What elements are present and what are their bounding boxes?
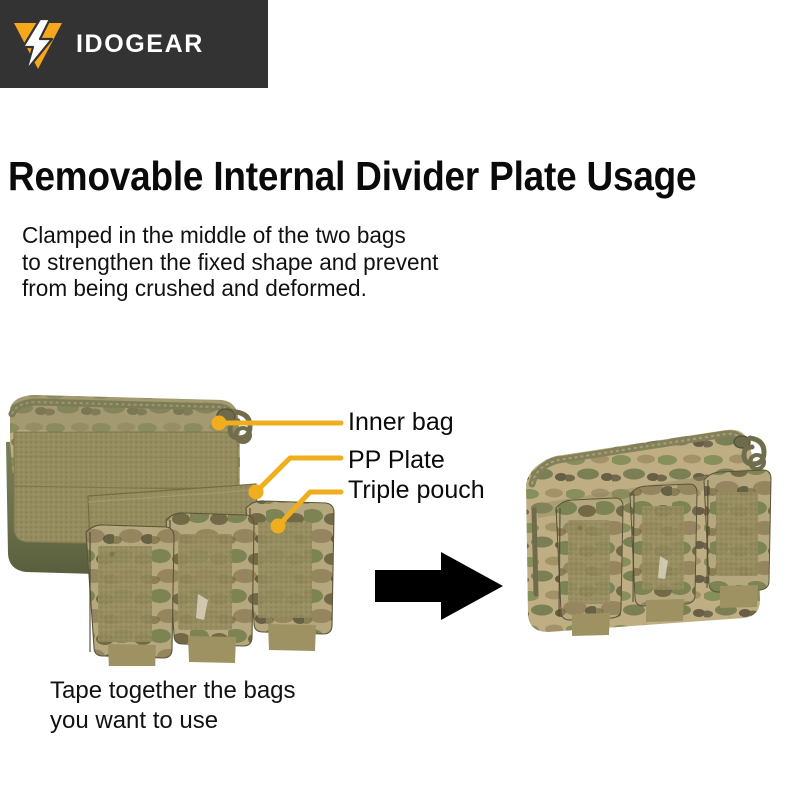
callout-label-triple-pouch: Triple pouch <box>348 478 485 503</box>
subtitle-line-1: Clamped in the middle of the two bags <box>22 222 617 249</box>
brand-header-bar: IDOGEAR <box>0 0 268 88</box>
product-infographic-page: IDOGEAR Removable Internal Divider Plate… <box>0 0 800 800</box>
page-title: Removable Internal Divider Plate Usage <box>8 152 719 200</box>
page-subtitle: Clamped in the middle of the two bags to… <box>22 222 617 302</box>
bottom-caption: Tape together the bags you want to use <box>50 676 296 736</box>
assembled-pouch-photo <box>520 418 792 668</box>
exploded-components-photo <box>0 386 340 666</box>
caption-line-1: Tape together the bags <box>50 676 296 706</box>
triple-pouch-part <box>86 501 334 666</box>
callout-label-pp-plate: PP Plate <box>348 448 445 473</box>
subtitle-line-3: from being crushed and deformed. <box>22 275 617 302</box>
brand-name: IDOGEAR <box>76 30 204 59</box>
right-arrow-icon <box>375 550 505 622</box>
callout-label-inner-bag: Inner bag <box>348 410 454 435</box>
lightning-bolt-triangle-icon <box>10 17 66 73</box>
subtitle-line-2: to strengthen the fixed shape and preven… <box>22 249 617 276</box>
caption-line-2: you want to use <box>50 706 296 736</box>
